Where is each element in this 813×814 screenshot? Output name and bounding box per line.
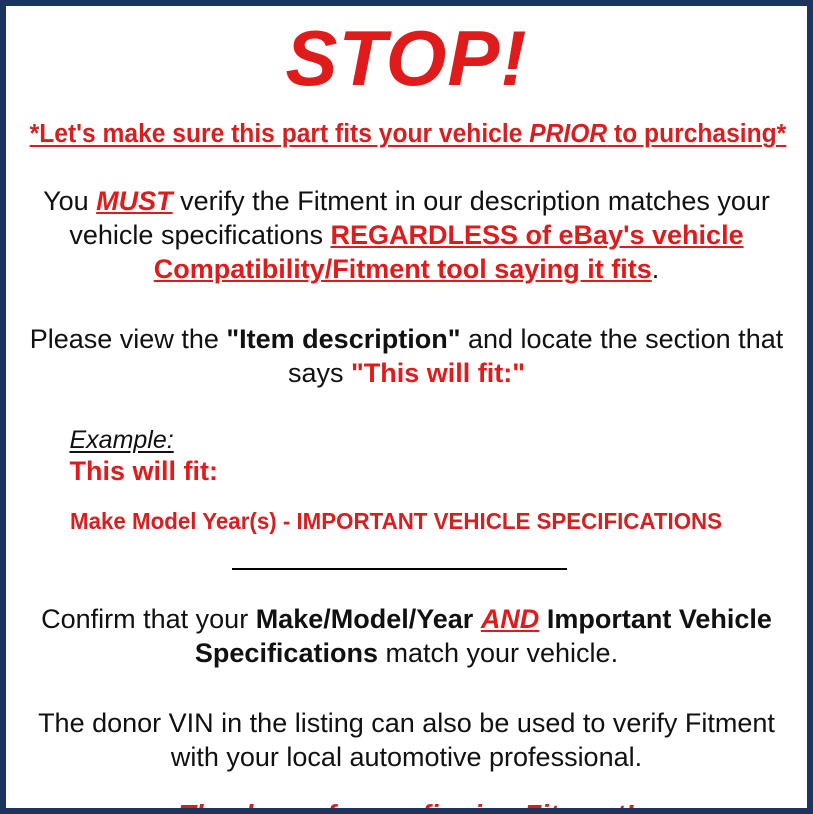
divider-container [16,534,797,578]
itemdesc-text-part1: Please view the [30,324,227,354]
this-will-fit-label: "This will fit:" [351,358,525,388]
donor-vin-paragraph: The donor VIN in the listing can also be… [17,670,797,774]
fitment-notice-card: STOP! *Let's make sure this part fits yo… [0,0,813,814]
and-emphasis: AND [481,604,540,634]
example-block: Example: This will fit: Make Model Year(… [42,390,772,534]
item-description-paragraph: Please view the "Item description" and l… [17,286,797,390]
thank-you-message: Thank you for confirming Fitment! [16,774,797,814]
example-label-row: Example: [70,426,772,455]
example-fit-heading: This will fit: [70,455,772,487]
make-model-year-emphasis: Make/Model/Year [256,604,474,634]
item-description-label: "Item description" [226,324,460,354]
notice-content: STOP! *Let's make sure this part fits yo… [6,6,807,808]
page-title: STOP! [16,6,797,96]
subtitle-suffix: to purchasing* [607,120,786,148]
example-specification-line: Make Model Year(s) - IMPORTANT VEHICLE S… [70,487,751,534]
example-label: Example: [70,426,174,455]
must-text-part3: . [652,254,660,284]
subtitle-banner: *Let's make sure this part fits your veh… [30,96,784,149]
must-verify-paragraph: You MUST verify the Fitment in our descr… [22,150,792,286]
must-emphasis: MUST [96,186,173,216]
subtitle-prefix: *Let's make sure this part fits your veh… [30,120,530,148]
confirm-paragraph: Confirm that your Make/Model/Year AND Im… [27,578,787,670]
confirm-text-part1: Confirm that your [41,604,256,634]
must-text-part1: You [43,186,96,216]
confirm-text-part2: match your vehicle. [378,638,618,668]
horizontal-divider [232,568,567,570]
subtitle-emphasis-prior: PRIOR [529,120,607,148]
